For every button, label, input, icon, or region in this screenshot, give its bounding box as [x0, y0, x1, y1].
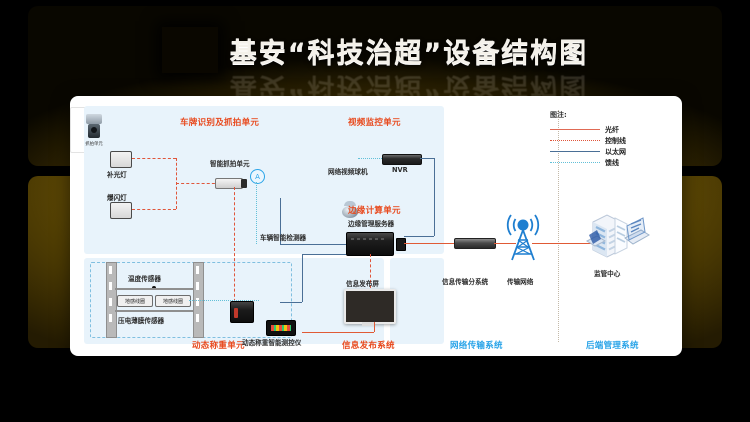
panel-lower-mid	[390, 258, 444, 344]
video-unit-header: 视频监控单元	[348, 116, 401, 128]
legend-swatch-fiber	[550, 129, 600, 130]
wire-fiber-switch-to-tower	[494, 243, 516, 244]
legend-label-ethernet: 以太网	[605, 147, 626, 157]
plate-unit-header: 车牌识别及抓拍单元	[180, 116, 259, 128]
transmission-network-label: 传输网络	[507, 276, 533, 286]
sensor-bar-bottom	[115, 310, 193, 312]
edge-unit-header: 边缘计算单元	[348, 204, 401, 216]
wire-fiber-switch-in	[434, 243, 454, 244]
vehicle-detector-label: 车辆智能检测器	[260, 232, 306, 242]
slide-stage: 基安“科技治超”设备结构图 基安“科技治超”设备结构图 图注: 光纤 控制线 以…	[0, 0, 750, 422]
antenna-tower-icon	[500, 210, 546, 262]
road-dash-left-4	[109, 314, 112, 322]
strobe-light-device	[110, 202, 132, 219]
supervision-center-illustration	[575, 208, 651, 260]
road-dash-left-3	[109, 298, 112, 306]
vehicle-detector-device-top	[230, 301, 254, 323]
info-display-stand	[362, 322, 374, 326]
transmission-subsystem-label: 信息传输分系统	[442, 276, 488, 286]
fill-light-device	[110, 151, 132, 168]
piezo-sensor-label: 压电薄膜传感器	[118, 315, 164, 325]
edge-server-label: 边缘管理服务器	[348, 218, 394, 228]
legend: 图注: 光纤 控制线 以太网 馈线	[550, 110, 668, 168]
wireless-icon: A	[250, 169, 265, 184]
diagram-card: 图注: 光纤 控制线 以太网 馈线 车牌识别及抓拍单元 补光灯 爆闪灯	[70, 96, 682, 356]
capture-unit-photo-icon	[83, 114, 105, 140]
sensor-bar-top	[115, 288, 193, 290]
weigh-controller-device	[266, 320, 296, 336]
road-dash-left	[109, 266, 112, 274]
edge-server-accessory	[396, 238, 406, 251]
page-title: 基安“科技治超”设备结构图	[230, 31, 589, 70]
slide-title-bar: 基安“科技治超”设备结构图	[0, 18, 750, 82]
legend-item-ethernet: 以太网	[550, 146, 668, 157]
wire-feeder-dome-to-nvr	[358, 158, 382, 159]
capture-unit-photo-caption: 抓拍单元	[85, 141, 103, 147]
edge-server-device	[346, 232, 394, 256]
nvr-label: NVR	[392, 166, 408, 174]
wire-control-fill-light	[132, 158, 176, 159]
legend-label-fiber: 光纤	[605, 125, 619, 135]
nvr-device	[382, 154, 422, 165]
wire-control-to-capture	[176, 183, 220, 184]
wire-eth-detector-link	[280, 302, 302, 303]
dome-camera-label: 网络视频球机	[328, 166, 368, 176]
wire-eth-nvr-to-edge	[404, 236, 434, 237]
legend-label-control: 控制线	[605, 136, 626, 146]
wire-feeder-camera-down	[256, 182, 257, 244]
legend-swatch-ethernet	[550, 151, 600, 152]
legend-item-fiber: 光纤	[550, 124, 668, 135]
wire-eth-detector-riser	[302, 254, 303, 302]
legend-title: 图注:	[550, 110, 668, 120]
transmission-switch-device	[454, 238, 496, 249]
temp-sensor-label: 温度传感器	[128, 273, 161, 283]
road-dash-left-2	[109, 282, 112, 290]
info-screen-label: 信息发布屏	[346, 278, 379, 288]
weigh-unit-header: 动态称重单元	[192, 339, 245, 351]
wire-fiber-screen-base	[302, 332, 374, 333]
capture-unit-label: 智能抓拍单元	[210, 158, 250, 168]
fill-light-label: 补光灯	[107, 169, 127, 179]
network-unit-header: 网络传输系统	[450, 339, 503, 351]
strobe-light-label: 爆闪灯	[107, 192, 127, 202]
title-decor-block	[162, 27, 218, 73]
info-display-device	[344, 289, 396, 324]
wire-fiber-screen-riser	[374, 322, 375, 332]
wire-control-strobe-light	[132, 209, 176, 210]
info-unit-header: 信息发布系统	[342, 339, 395, 351]
legend-swatch-control	[550, 140, 600, 141]
induction-coil-left: 地感线圈	[117, 295, 153, 307]
supervision-center-label: 监管中心	[594, 268, 620, 278]
legend-swatch-feeder	[550, 162, 600, 163]
capture-camera-device	[215, 178, 243, 189]
legend-item-feeder: 馈线	[550, 157, 668, 168]
legend-label-feeder: 馈线	[605, 158, 619, 168]
induction-coil-right: 地感线圈	[155, 295, 191, 307]
road-dash-right-2	[196, 282, 199, 290]
backend-unit-header: 后端管理系统	[586, 339, 639, 351]
road-dash-right	[196, 266, 199, 274]
road-dash-right-4	[196, 314, 199, 322]
legend-item-control: 控制线	[550, 135, 668, 146]
weigh-controller-label: 动态称重智能测控仪	[242, 337, 301, 347]
wire-eth-detector-top	[302, 254, 346, 255]
wire-eth-nvr-out	[420, 158, 434, 159]
wire-eth-nvr-riser	[434, 158, 435, 236]
